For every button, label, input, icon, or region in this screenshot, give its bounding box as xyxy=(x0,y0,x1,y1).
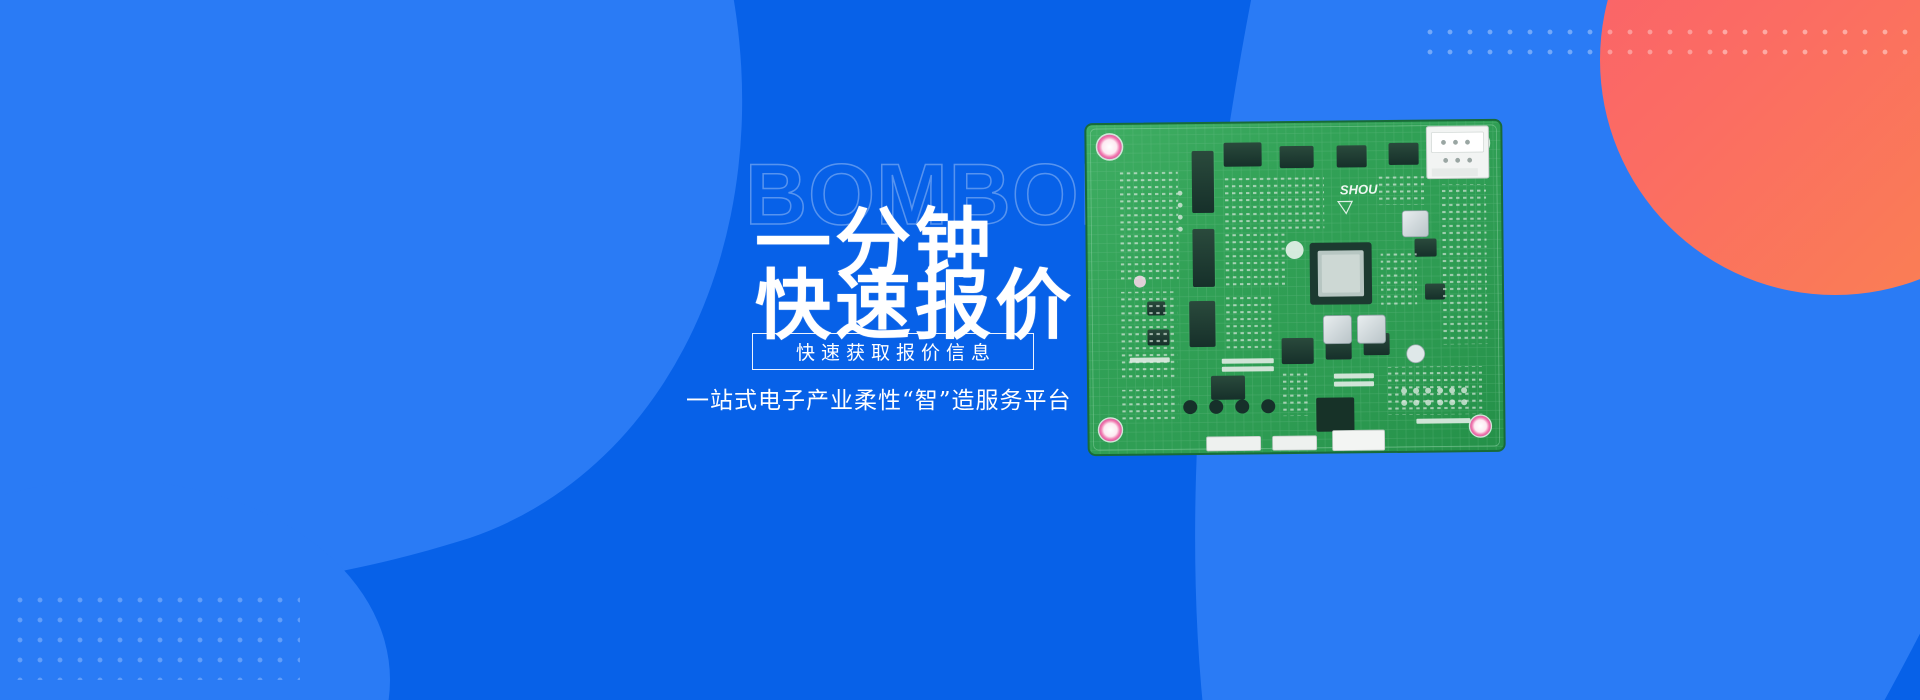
circuit-board-image: SHOU xyxy=(1083,118,1506,457)
pcb-card-slot xyxy=(1426,126,1489,179)
svg-text:SHOU: SHOU xyxy=(1340,181,1379,197)
promo-banner: BOMBOM 一分钟 快速报价 快速获取报价信息 一站式电子产业柔性“智”造服务… xyxy=(0,0,1920,700)
coral-circle-decoration xyxy=(1600,0,1920,295)
hero-copy-block: BOMBOM 一分钟 快速报价 快速获取报价信息 一站式电子产业柔性“智”造服务… xyxy=(0,0,1120,700)
cta-label: 快速获取报价信息 xyxy=(790,338,996,365)
cta-button[interactable]: 快速获取报价信息 xyxy=(752,333,1034,370)
tagline: 一站式电子产业柔性“智”造服务平台 xyxy=(686,381,1072,415)
